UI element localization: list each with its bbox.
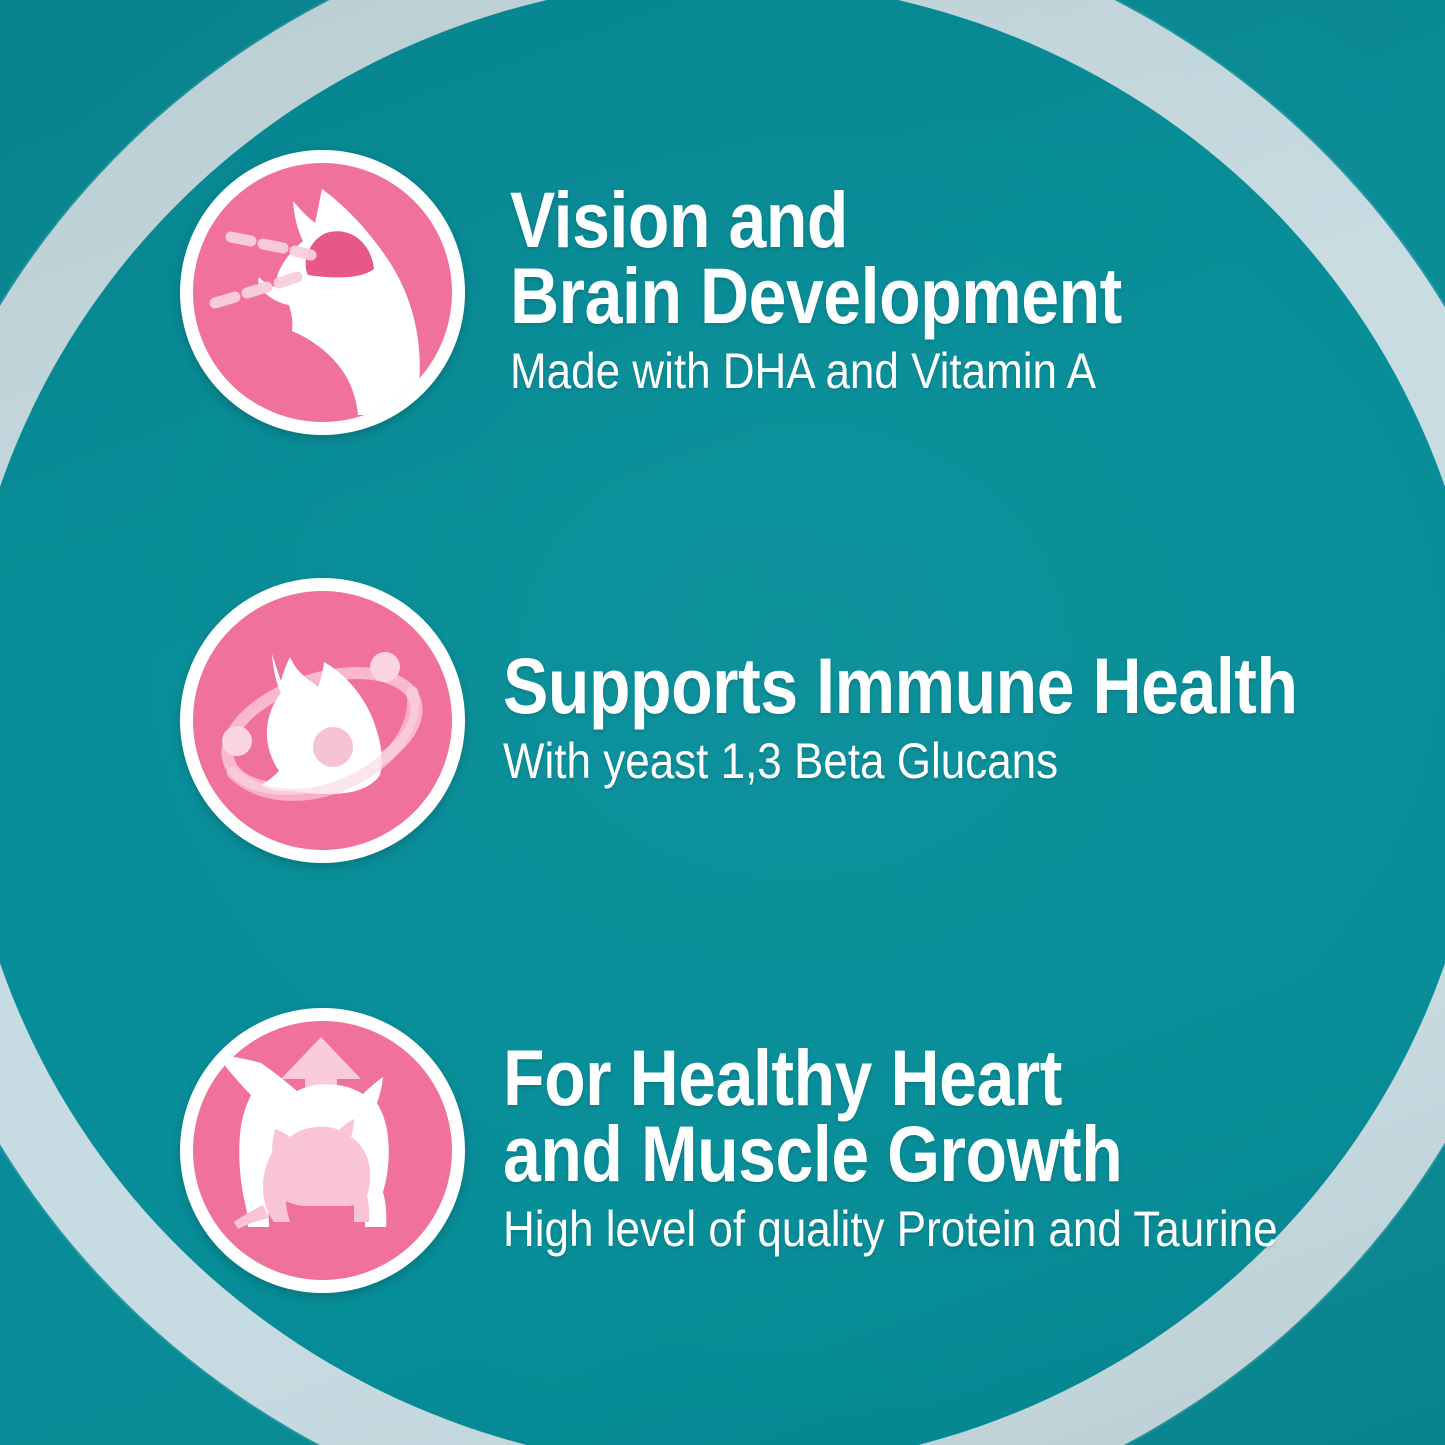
benefit-row-growth: For Healthy Heart and Muscle Growth High… [180,1008,1383,1293]
benefit-subline: With yeast 1,3 Beta Glucans [503,734,1316,789]
benefit-copy-vision: Vision and Brain Development Made with D… [510,182,1221,403]
benefits-poster: Vision and Brain Development Made with D… [0,0,1445,1445]
benefit-row-immune: Supports Immune Health With yeast 1,3 Be… [180,578,1427,863]
benefit-headline: For Healthy Heart and Muscle Growth [503,1040,1260,1192]
benefit-subline: High level of quality Protein and Taurin… [503,1202,1278,1257]
cat-growth-arrow-icon [193,1021,452,1280]
benefit-subline: Made with DHA and Vitamin A [510,344,1136,399]
badge-immune [180,578,465,863]
cat-immune-orbit-icon [193,591,452,850]
badge-vision [180,150,465,435]
benefit-headline: Supports Immune Health [503,648,1298,724]
cat-vision-brain-icon [193,163,452,422]
benefit-copy-growth: For Healthy Heart and Muscle Growth High… [503,1040,1383,1261]
badge-growth [180,1008,465,1293]
benefits-list: Vision and Brain Development Made with D… [0,0,1445,1445]
benefit-copy-immune: Supports Immune Health With yeast 1,3 Be… [503,648,1427,793]
benefit-headline: Vision and Brain Development [510,182,1122,334]
benefit-row-vision: Vision and Brain Development Made with D… [180,150,1221,435]
